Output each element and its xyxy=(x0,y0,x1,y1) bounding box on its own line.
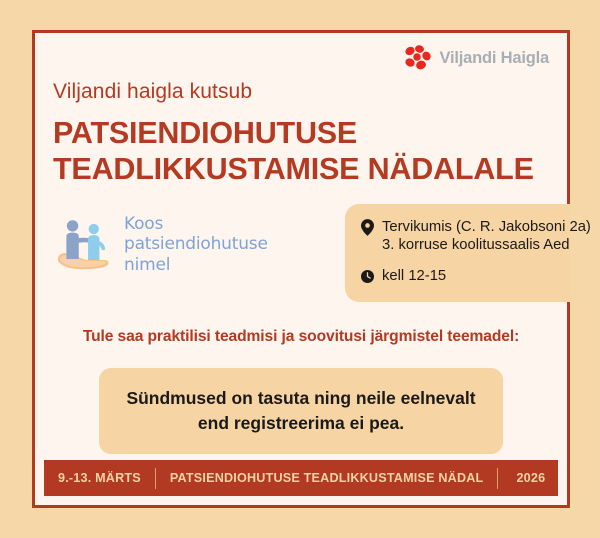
location-line-1: Tervikumis (C. R. Jakobsoni 2a) xyxy=(382,218,591,237)
campaign-logo: Koos patsiendiohutuse nimel xyxy=(35,204,268,276)
info-time-text: kell 12-15 xyxy=(382,267,446,286)
event-info-box: Tervikumis (C. R. Jakobsoni 2a) 3. korru… xyxy=(345,204,570,303)
mid-row: Koos patsiendiohutuse nimel Tervikumis (… xyxy=(35,204,567,276)
callout-line-2: end registreerima ei pea. xyxy=(119,411,483,436)
campaign-line-1: Koos xyxy=(124,214,268,235)
hospital-brand: Viljandi Haigla xyxy=(53,41,549,75)
headline-line-1: PATSIENDIOHUTUSE xyxy=(53,116,357,150)
flower-logo-icon xyxy=(402,44,432,72)
campaign-line-2: patsiendiohutuse xyxy=(124,234,268,255)
header: Viljandi Haigla Viljandi haigla kutsub P… xyxy=(35,33,567,188)
time-value: kell 12-15 xyxy=(382,267,446,286)
campaign-tagline: Koos patsiendiohutuse nimel xyxy=(124,214,268,276)
headline-line-2: TEADLIKKUSTAMISE NÄDALALE xyxy=(53,152,549,188)
clock-icon xyxy=(361,269,374,284)
kicker-text: Viljandi haigla kutsub xyxy=(53,79,549,104)
page-title: PATSIENDIOHUTUSE TEADLIKKUSTAMISE NÄDALA… xyxy=(53,116,549,187)
two-figures-on-hand-icon xyxy=(55,216,117,274)
info-row-location: Tervikumis (C. R. Jakobsoni 2a) 3. korru… xyxy=(361,218,560,256)
map-pin-icon xyxy=(361,219,374,236)
footer-title: PATSIENDIOHUTUSE TEADLIKKUSTAMISE NÄDAL xyxy=(170,471,484,485)
footer-year: 2026 xyxy=(512,471,545,485)
footer-divider-left xyxy=(155,468,156,489)
poster-panel: Viljandi Haigla Viljandi haigla kutsub P… xyxy=(32,30,570,508)
hospital-brand-name: Viljandi Haigla xyxy=(440,49,549,68)
footer-bar: 9.-13. MÄRTS PATSIENDIOHUTUSE TEADLIKKUS… xyxy=(44,460,558,496)
location-line-2: 3. korruse koolitussaalis Aed xyxy=(382,236,591,255)
campaign-line-3: nimel xyxy=(124,255,268,276)
footer-dates: 9.-13. MÄRTS xyxy=(58,471,141,485)
info-row-time: kell 12-15 xyxy=(361,267,560,286)
callout-box: Sündmused on tasuta ning neile eelnevalt… xyxy=(99,368,503,455)
info-location-text: Tervikumis (C. R. Jakobsoni 2a) 3. korru… xyxy=(382,218,591,256)
leadin-text: Tule saa praktilisi teadmisi ja soovitus… xyxy=(35,328,567,346)
footer-divider-right xyxy=(497,468,498,489)
callout-line-1: Sündmused on tasuta ning neile eelnevalt xyxy=(119,386,483,411)
poster: Viljandi Haigla Viljandi haigla kutsub P… xyxy=(0,0,600,538)
footer-wrap: 9.-13. MÄRTS PATSIENDIOHUTUSE TEADLIKKUS… xyxy=(35,460,567,505)
